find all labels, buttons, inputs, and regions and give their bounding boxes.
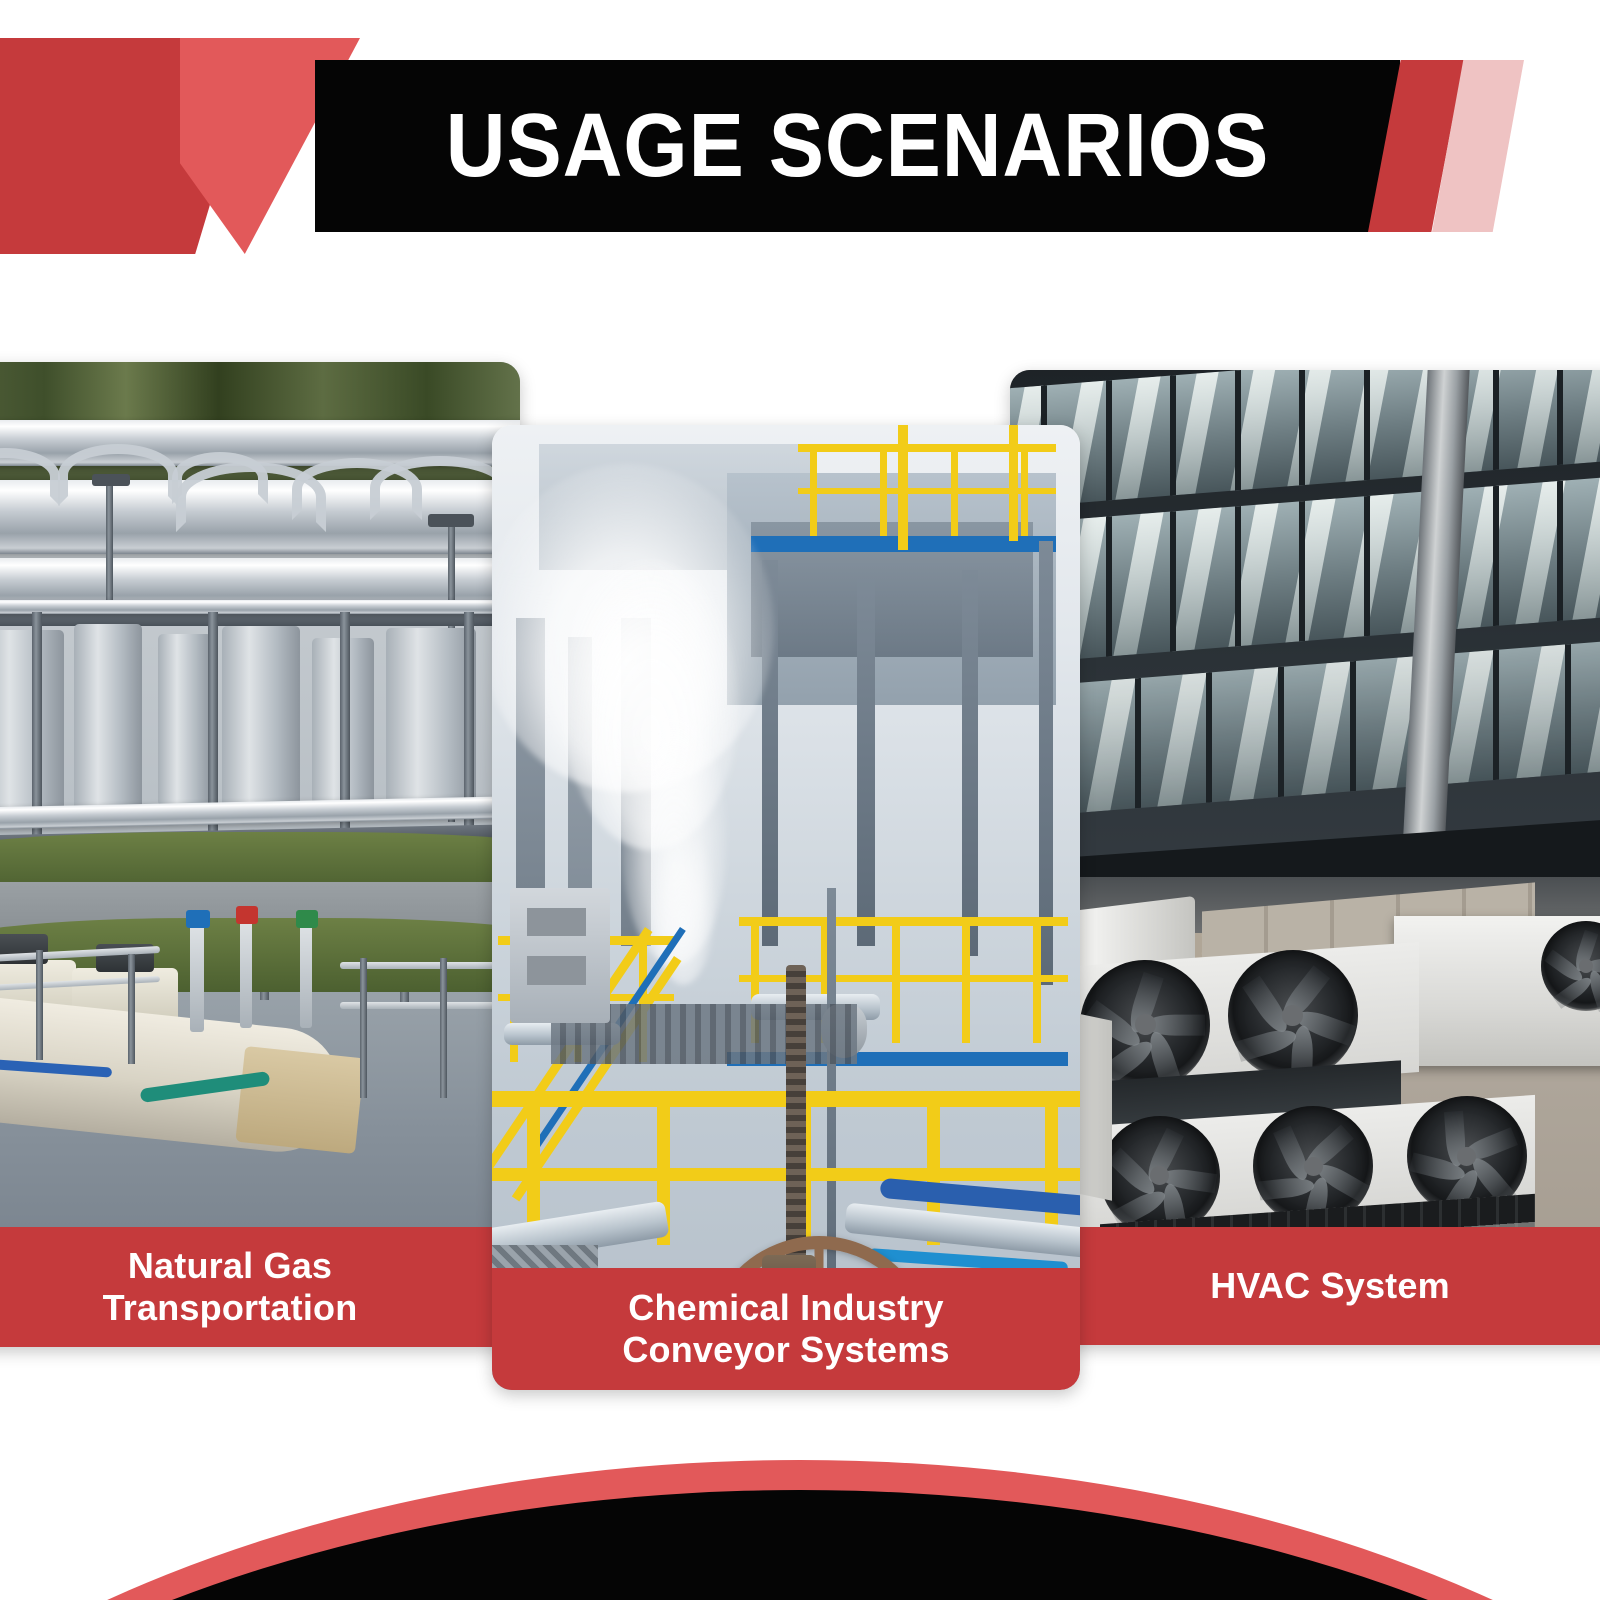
scenario-card-chemical-conveyor[interactable]: Chemical Industry Conveyor Systems [492,425,1080,1390]
caption-hvac: HVAC System [1010,1227,1600,1345]
caption-line-2: Conveyor Systems [622,1329,949,1371]
header-banner: USAGE SCENARIOS [0,0,1600,290]
hvac-photo [1010,370,1600,1345]
footer-decoration [0,1440,1600,1600]
glass-facade [1010,370,1600,897]
caption-line-1: HVAC System [1210,1265,1450,1307]
caption-line-2: Transportation [103,1287,358,1329]
footer-black-arc [0,1490,1600,1600]
chiller-fan [1228,950,1358,1080]
scenario-card-hvac[interactable]: HVAC System [1010,370,1600,1345]
natural-gas-photo [0,362,520,1347]
caption-natural-gas: Natural Gas Transportation [0,1227,520,1347]
page-title: USAGE SCENARIOS [358,60,1356,232]
caption-chemical-conveyor: Chemical Industry Conveyor Systems [492,1268,1080,1390]
scenario-card-natural-gas[interactable]: Natural Gas Transportation [0,362,520,1347]
caption-line-1: Chemical Industry [628,1287,943,1329]
usage-scenarios-poster: USAGE SCENARIOS [0,0,1600,1600]
chemical-plant-photo [492,425,1080,1390]
caption-line-1: Natural Gas [128,1245,332,1287]
